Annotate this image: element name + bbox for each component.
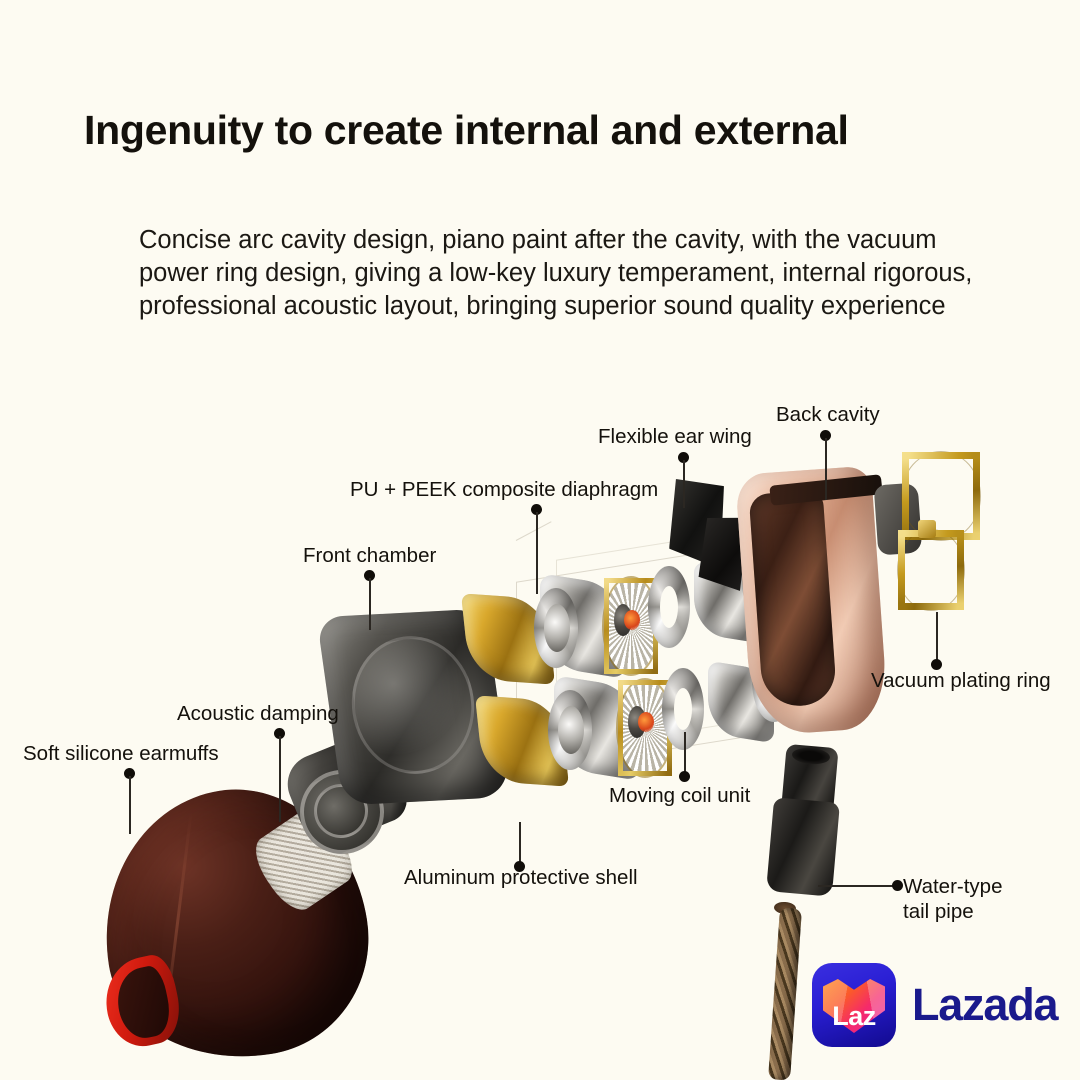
leader-water-type-tail-pipe	[818, 880, 904, 892]
leader-vacuum-plating-ring	[931, 612, 943, 670]
callout-vacuum-plating-ring: Vacuum plating ring	[871, 668, 1051, 693]
callout-soft-silicone-earmuffs: Soft silicone earmuffs	[23, 741, 219, 766]
vacuum-plating-ring-lower	[898, 530, 964, 610]
leader-flexible-ear-wing	[678, 452, 690, 508]
lazada-wordmark: Lazada	[912, 979, 1057, 1031]
callout-pu-peek-diaphragm: PU + PEEK composite diaphragm	[350, 477, 658, 502]
callout-water-type-line1: Water-type	[903, 874, 1053, 899]
leader-pu-peek-diaphragm	[531, 504, 543, 594]
vacuum-plating-ring-bridge	[918, 520, 936, 538]
leader-front-chamber	[364, 570, 376, 630]
leader-soft-silicone-earmuffs	[124, 768, 136, 834]
leader-acoustic-damping	[274, 728, 286, 822]
vacuum-plating-ring-upper	[902, 452, 980, 540]
callout-acoustic-damping: Acoustic damping	[177, 701, 339, 726]
driver-housing-upper-bore	[544, 604, 570, 652]
product-infographic: Ingenuity to create internal and externa…	[0, 0, 1080, 1080]
driver-housing-lower-bore	[558, 706, 584, 754]
back-cavity-interior	[749, 490, 838, 709]
magnet-washer-upper-slot	[660, 586, 678, 628]
braided-cable	[768, 907, 802, 1080]
callout-flexible-ear-wing: Flexible ear wing	[598, 424, 752, 449]
magnet-washer-lower-slot	[674, 688, 692, 730]
callout-aluminum-protective-shell: Aluminum protective shell	[404, 865, 638, 890]
callout-front-chamber: Front chamber	[303, 543, 436, 568]
lazada-mark-text: Laz	[812, 1003, 896, 1030]
callout-back-cavity: Back cavity	[776, 402, 880, 427]
diaphragm-upper-accent	[624, 610, 640, 630]
callout-water-type-line2: tail pipe	[903, 899, 1053, 924]
callout-moving-coil-unit: Moving coil unit	[609, 783, 750, 808]
lazada-logo[interactable]: Laz Lazada	[812, 962, 1062, 1048]
diaphragm-lower-accent	[638, 712, 654, 732]
leader-back-cavity	[820, 430, 832, 500]
leader-moving-coil-unit	[679, 732, 691, 782]
callout-water-type-tail-pipe: Water-type tail pipe	[903, 874, 1053, 924]
lazada-app-icon: Laz	[812, 963, 896, 1047]
